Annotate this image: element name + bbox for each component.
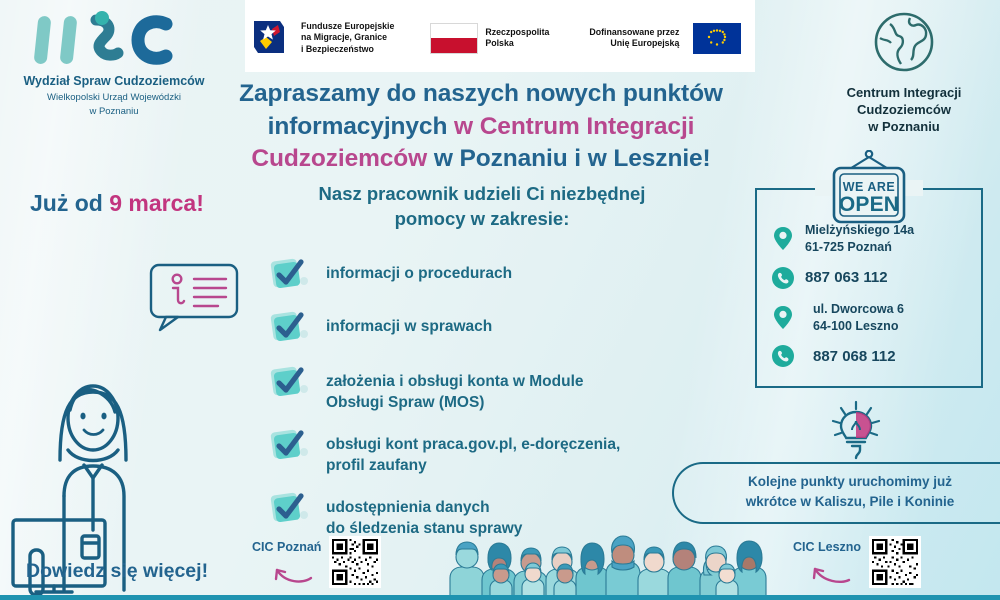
we-are-open-sign: WE ARE OPEN — [818, 150, 920, 226]
headline-part-1: Zapraszamy do naszych nowych punktów — [239, 80, 723, 107]
wsc-logo-block: Wydział Spraw Cudzoziemców Wielkopolski … — [14, 8, 214, 117]
headline-part-2: informacyjnych — [268, 113, 454, 140]
checkmark-icon — [268, 254, 310, 296]
european-funds-logo: Fundusze Europejskie na Migracje, Granic… — [250, 19, 394, 57]
poland-logo: Rzeczpospolita Polska — [430, 23, 549, 54]
map-pin-icon — [770, 225, 796, 253]
qr-leszno-label: CIC Leszno — [793, 540, 861, 554]
curved-arrow-icon — [807, 558, 847, 584]
contact-list: Mielżyńskiego 14a 61-725 Poznań 887 063 … — [770, 222, 980, 377]
contact-address-leszno: ul. Dworcowa 6 64-100 Leszno — [770, 301, 980, 336]
headline-part-4: w Poznaniu i w Lesznie! — [427, 145, 710, 172]
learn-more-cta: Dowiedz się więcej! — [26, 560, 208, 583]
contact-address-text: ul. Dworcowa 6 64-100 Leszno — [805, 301, 904, 336]
wsc-logo-subtitle-line2: w Poznaniu — [14, 106, 214, 118]
page-subtitle: Nasz pracownik udzieli Ci niezbędnej pom… — [232, 182, 732, 232]
list-item-label: obsługi kont praca.gov.pl, e-doręczenia,… — [326, 429, 620, 477]
phone-icon — [770, 342, 796, 370]
eu-funds-line-3: i Bezpieczeństwo — [301, 44, 394, 55]
qr-poznan-label: CIC Poznań — [252, 540, 321, 554]
address-line-2: 64-100 Leszno — [813, 318, 904, 335]
list-item: założenia i obsługi konta w Module Obsłu… — [268, 366, 698, 414]
contact-phone-poznan[interactable]: 887 063 112 — [770, 264, 980, 292]
note-line-2: wkrótce w Kaliszu, Pile i Koninie — [700, 492, 1000, 512]
page-title: Zapraszamy do naszych nowych punktów inf… — [205, 78, 757, 176]
eu-funds-line-2: na Migracje, Granice — [301, 32, 394, 43]
list-item: informacji o procedurach — [268, 258, 698, 296]
polish-flag-icon — [430, 23, 478, 54]
qr-code-leszno[interactable] — [869, 536, 921, 588]
contact-phone-text: 887 068 112 — [805, 348, 896, 365]
cofinanced-text: Dofinansowane przez Unię Europejską — [589, 27, 679, 50]
subtitle-line-1: Nasz pracownik udzieli Ci niezbędnej — [232, 182, 732, 207]
qr-code-poznan[interactable] — [329, 536, 381, 588]
consultant-illustration — [8, 300, 168, 595]
wsc-logo-mark-icon — [14, 8, 214, 68]
cic-logo-line-2: Cudzoziemców — [820, 102, 988, 119]
list-item: obsługi kont praca.gov.pl, e-doręczenia,… — [268, 429, 698, 477]
bottom-accent-bar — [0, 595, 1000, 600]
cic-logo-block: Centrum Integracji Cudzoziemców w Poznan… — [820, 8, 988, 136]
open-sign-line-1: WE ARE — [843, 180, 896, 194]
open-sign-line-2: OPEN — [839, 193, 899, 216]
cofinanced-line-2: Unię Europejską — [589, 38, 679, 49]
curved-arrow-icon — [267, 558, 307, 584]
qr-block-leszno[interactable]: CIC Leszno — [793, 536, 921, 588]
address-line-1: ul. Dworcowa 6 — [813, 301, 904, 318]
cic-logo-line-3: w Poznaniu — [820, 119, 988, 136]
contact-address-text: Mielżyńskiego 14a 61-725 Poznań — [805, 222, 914, 257]
address-line-2: 61-725 Poznań — [805, 239, 914, 256]
eu-funding-strip: Fundusze Europejskie na Migracje, Granic… — [250, 10, 750, 66]
checkmark-icon — [268, 488, 310, 530]
cofinanced-line-1: Dofinansowane przez — [589, 27, 679, 38]
cic-logo-line-1: Centrum Integracji — [820, 85, 988, 102]
poland-text: Rzeczpospolita Polska — [485, 27, 549, 50]
services-list: informacji o procedurach informacji w sp… — [268, 258, 698, 555]
globe-icon — [820, 8, 988, 81]
wsc-logo-subtitle-line1: Wielkopolski Urząd Wojewódzki — [14, 92, 214, 104]
start-date-prefix: Już od — [30, 190, 109, 216]
contact-phone-leszno[interactable]: 887 068 112 — [770, 342, 980, 370]
european-funds-mark-icon — [250, 19, 294, 57]
note-line-1: Kolejne punkty uruchomimy już — [700, 472, 1000, 492]
poster-root: Wydział Spraw Cudzoziemców Wielkopolski … — [0, 0, 1000, 600]
qr-block-poznan[interactable]: CIC Poznań — [252, 536, 381, 588]
european-funds-text: Fundusze Europejskie na Migracje, Granic… — [301, 21, 394, 55]
wsc-logo-name: Wydział Spraw Cudzoziemców — [14, 74, 214, 90]
contact-phone-text: 887 063 112 — [805, 269, 888, 286]
start-date-highlight: 9 marca! — [109, 190, 204, 216]
list-item-label: informacji w sprawach — [326, 311, 492, 338]
upcoming-note-text: Kolejne punkty uruchomimy już wkrótce w … — [700, 472, 1000, 511]
cofinanced-logo: Dofinansowane przez Unię Europejską — [589, 23, 741, 54]
address-line-1: Mielżyńskiego 14a — [805, 222, 914, 239]
crowd-illustration — [448, 533, 768, 600]
eu-flag-icon — [693, 23, 741, 54]
checkmark-icon — [268, 425, 310, 467]
list-item: informacji w sprawach — [268, 311, 698, 349]
poland-line-1: Rzeczpospolita — [485, 27, 549, 38]
start-date-callout: Już od 9 marca! — [30, 190, 204, 217]
list-item-label: informacji o procedurach — [326, 258, 512, 285]
poland-line-2: Polska — [485, 38, 549, 49]
checkmark-icon — [268, 307, 310, 349]
lightbulb-icon — [828, 400, 884, 460]
contact-address-poznan: Mielżyńskiego 14a 61-725 Poznań — [770, 222, 980, 257]
phone-icon — [770, 264, 796, 292]
checkmark-icon — [268, 362, 310, 404]
list-item-label: założenia i obsługi konta w Module Obsłu… — [326, 366, 584, 414]
map-pin-icon — [770, 304, 796, 332]
subtitle-line-2: pomocy w zakresie: — [232, 207, 732, 232]
eu-funds-line-1: Fundusze Europejskie — [301, 21, 394, 32]
